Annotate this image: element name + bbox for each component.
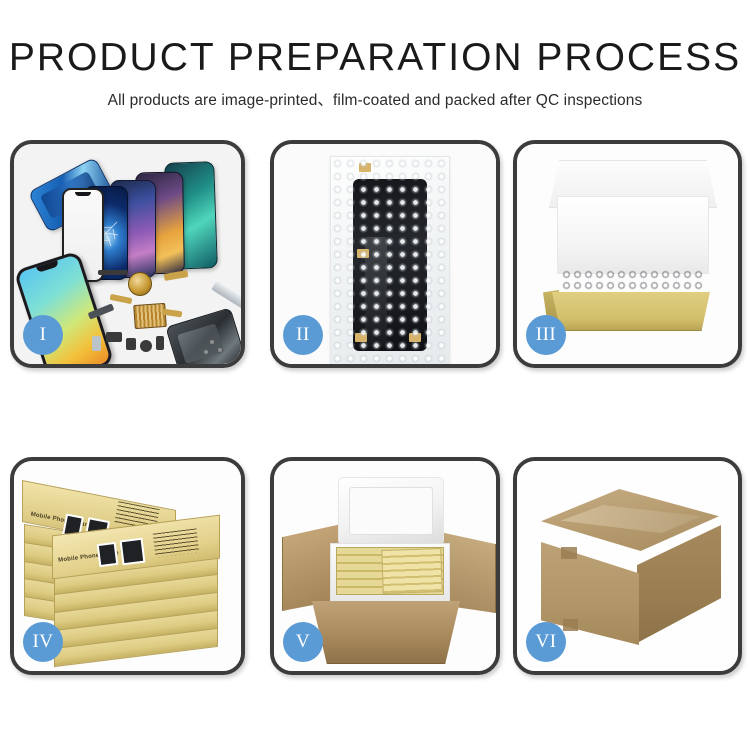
speaker-coil-icon (128, 272, 152, 296)
box-thumbnail-icon (97, 542, 119, 567)
button-part-icon (140, 340, 152, 352)
foam-box-lid-icon (338, 477, 444, 545)
step-badge-1: I (23, 315, 63, 355)
step-6-illustration: VI (517, 461, 738, 671)
step-badge-6: VI (526, 622, 566, 662)
bubble-pattern-icon (331, 157, 449, 364)
page-subtitle: All products are image-printed、film-coat… (0, 88, 750, 110)
step-2-illustration: II (274, 144, 496, 364)
foam-sheet-icon (557, 196, 709, 274)
step-5-illustration: V (274, 461, 496, 671)
step-3-illustration: III (517, 144, 738, 364)
box-thumbnail-icon (120, 538, 146, 566)
step-panel-3[interactable]: III (513, 140, 742, 368)
yellow-box-body-icon (547, 292, 715, 331)
notch-icon (75, 192, 91, 196)
page-title: PRODUCT PREPARATION PROCESS (0, 36, 750, 80)
step-1-illustration: I (14, 144, 241, 364)
earpiece-part-icon (98, 270, 128, 275)
step-panel-1[interactable]: I (10, 140, 245, 368)
packed-yellow-boxes-icon (381, 548, 442, 594)
carton-tape-icon (563, 619, 578, 631)
step-panel-6[interactable]: VI (513, 457, 742, 675)
small-board-icon (92, 336, 101, 351)
bubble-wrap-bag-icon (330, 156, 450, 364)
page-root: PRODUCT PREPARATION PROCESS All products… (0, 0, 750, 750)
sim-tray-icon (156, 336, 164, 350)
vibration-motor-icon (126, 338, 136, 350)
step-panel-2[interactable]: II (270, 140, 500, 368)
step-badge-2: II (283, 315, 323, 355)
ic-chip-grid-icon (133, 303, 167, 329)
step-4-illustration: Mobile Phone Spare Parts Mobile Phone Sp… (14, 461, 241, 671)
carton-body-icon (312, 601, 460, 664)
camera-module-icon (106, 332, 122, 342)
step-badge-3: III (526, 315, 566, 355)
step-panel-5[interactable]: V (270, 457, 500, 675)
step-panel-4[interactable]: Mobile Phone Spare Parts Mobile Phone Sp… (10, 457, 245, 675)
carton-tape-icon (561, 547, 577, 559)
step-badge-4: IV (23, 622, 63, 662)
step-badge-5: V (283, 622, 323, 662)
